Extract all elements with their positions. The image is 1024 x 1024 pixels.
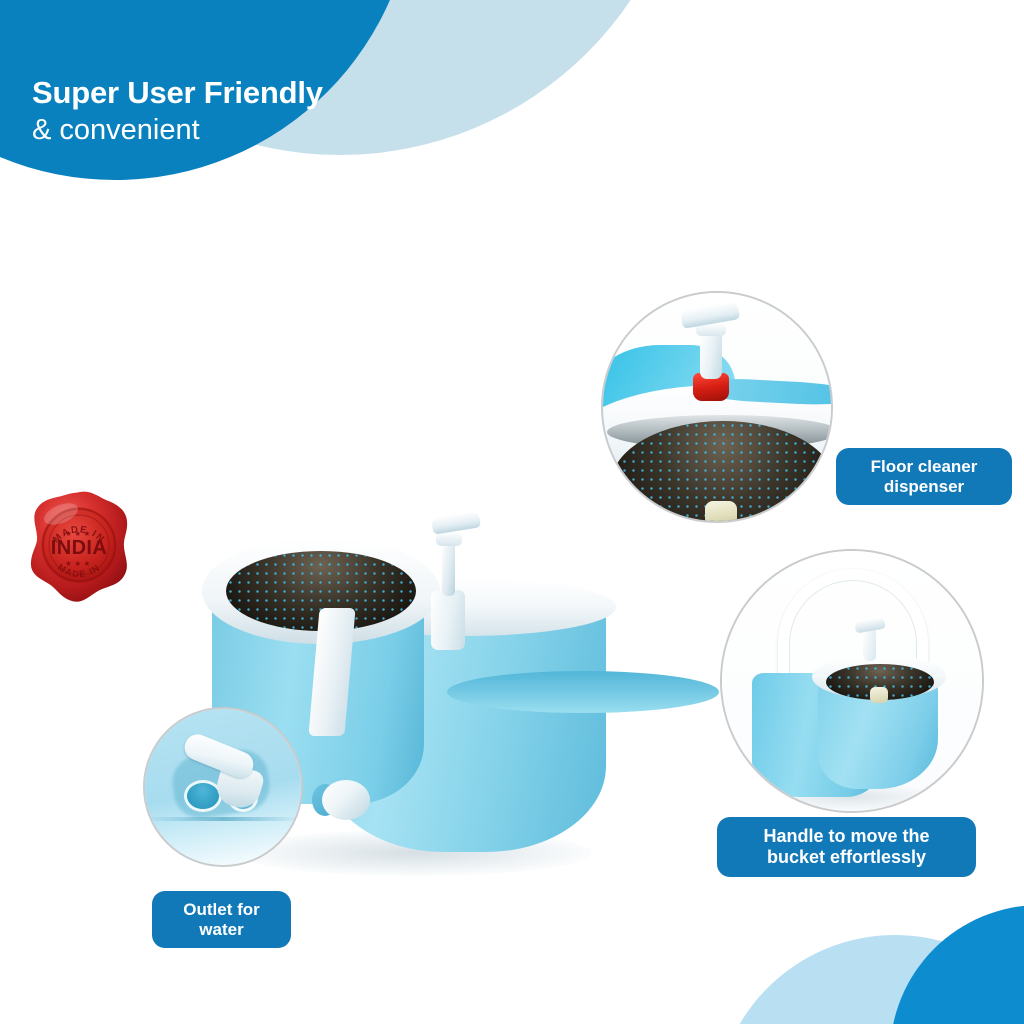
carry-handle-detail (720, 549, 984, 813)
soap-pump-icon (431, 510, 481, 534)
soap-pump-neck (442, 538, 455, 596)
page-title: Super User Friendly (32, 76, 323, 111)
callout-label-line2: water (168, 920, 275, 940)
soap-pump-reservoir (431, 590, 465, 650)
callout-label-handle: Handle to move the bucket effortlessly (717, 817, 976, 877)
soap-pump-collar (436, 532, 462, 546)
wash-tub-cavity (447, 671, 719, 713)
callout-label-line1: Floor cleaner (852, 457, 996, 477)
floor-cleaner-dispenser-detail (601, 291, 833, 523)
callout-label-line1: Outlet for (168, 900, 275, 920)
drain-hole-large (187, 783, 219, 809)
callout-label-line2: bucket effortlessly (733, 847, 960, 868)
caster-wheel-icon (322, 780, 370, 820)
callout-label-outlet: Outlet for water (152, 891, 291, 948)
callout-label-dispenser: Floor cleaner dispenser (836, 448, 1012, 505)
page-subtitle: & convenient (32, 113, 323, 147)
dispenser-pump-body (700, 331, 722, 379)
floor-line (145, 817, 301, 821)
callout-label-line1: Handle to move the (733, 826, 960, 847)
header-text-block: Super User Friendly & convenient (32, 76, 323, 147)
spin-hub (705, 501, 737, 523)
water-outlet-detail (143, 707, 303, 867)
made-in-india-seal: MADE IN ★★★ INDIA ★★★ MADE IN (27, 488, 133, 606)
svg-text:★★★: ★★★ (65, 559, 93, 568)
product-infographic-poster: Super User Friendly & convenient (0, 0, 1024, 1024)
svg-text:INDIA: INDIA (51, 537, 107, 559)
callout-label-line2: dispenser (852, 477, 996, 497)
spin-hub (870, 687, 888, 703)
soap-pump-body (863, 627, 876, 661)
